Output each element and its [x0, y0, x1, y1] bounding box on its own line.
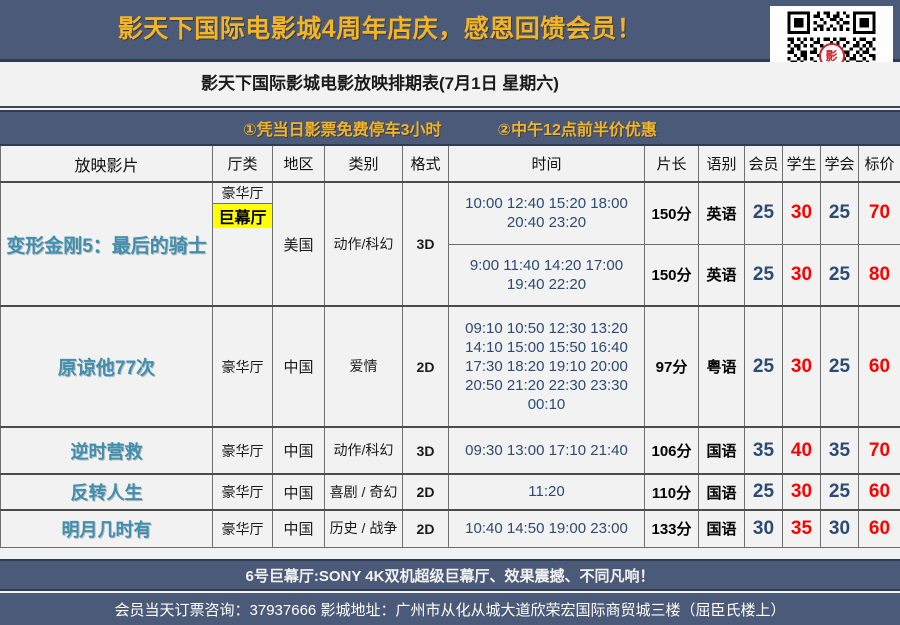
header-length: 片长	[645, 146, 699, 182]
cell-price-standard: 70	[859, 182, 900, 244]
cell-price-standard: 70	[859, 427, 900, 474]
cell-price-association: 25	[821, 244, 859, 306]
cell-showtimes[interactable]: 10:40 14:50 19:00 23:00	[449, 510, 645, 547]
header-standard: 标价	[859, 146, 900, 182]
table-header-row: 放映影片 厅类 地区 类别 格式 时间 片长 语别 会员 学生 学会 标价	[1, 146, 900, 182]
header-region: 地区	[273, 146, 325, 182]
cell-region: 中国	[273, 474, 325, 510]
header-format: 格式	[403, 146, 449, 182]
cell-length: 133分	[645, 510, 699, 547]
cell-price-student: 30	[783, 182, 821, 244]
cell-category: 历史 / 战争	[325, 510, 403, 547]
cell-length: 97分	[645, 306, 699, 427]
cell-region: 中国	[273, 510, 325, 547]
cell-price-standard: 80	[859, 244, 900, 306]
cell-hall: 豪华厅 巨幕厅	[213, 182, 273, 306]
cell-film-title: 原谅他77次	[1, 306, 213, 427]
header-member: 会员	[745, 146, 783, 182]
cell-showtimes[interactable]: 10:00 12:40 15:20 18:00 20:40 23:20	[449, 182, 645, 244]
cell-format: 3D	[403, 182, 449, 306]
schedule-subtitle: 影天下国际影城电影放映排期表(7月1日 星期六)	[0, 62, 760, 106]
table-row[interactable]: 明月几时有 豪华厅 中国 历史 / 战争 2D 10:40 14:50 19:0…	[1, 510, 900, 547]
footer-imax-note: 6号巨幕厅:SONY 4K双机超级巨幕厅、效果震撼、不同凡响！	[0, 559, 900, 591]
table-row[interactable]: 反转人生 豪华厅 中国 喜剧 / 奇幻 2D 11:20 110分 国语 25 …	[1, 474, 900, 510]
table-row[interactable]: 逆时营救 豪华厅 中国 动作/科幻 3D 09:30 13:00 17:10 2…	[1, 427, 900, 474]
cinema-schedule-poster: 影天下国际电影城4周年店庆，感恩回馈会员！	[0, 0, 900, 625]
header-hall: 厅类	[213, 146, 273, 182]
cell-language: 国语	[699, 474, 745, 510]
cell-hall: 豪华厅	[213, 474, 273, 510]
cell-showtimes[interactable]: 09:10 10:50 12:30 13:20 14:10 15:00 15:5…	[449, 306, 645, 427]
header-association: 学会	[821, 146, 859, 182]
table-row[interactable]: 原谅他77次 豪华厅 中国 爱情 2D 09:10 10:50 12:30 13…	[1, 306, 900, 427]
cell-price-student: 40	[783, 427, 821, 474]
cell-format: 3D	[403, 427, 449, 474]
cell-price-standard: 60	[859, 306, 900, 427]
cell-category: 喜剧 / 奇幻	[325, 474, 403, 510]
cell-region: 中国	[273, 306, 325, 427]
cell-format: 2D	[403, 306, 449, 427]
subtitle-row: 影天下国际影城电影放映排期表(7月1日 星期六)	[0, 62, 900, 108]
cell-showtimes[interactable]: 11:20	[449, 474, 645, 510]
cell-price-student: 35	[783, 510, 821, 547]
cell-price-standard: 60	[859, 510, 900, 547]
top-banner: 影天下国际电影城4周年店庆，感恩回馈会员！	[0, 0, 900, 62]
cell-format: 2D	[403, 510, 449, 547]
cell-region: 中国	[273, 427, 325, 474]
header-language: 语别	[699, 146, 745, 182]
cell-film-title: 逆时营救	[1, 427, 213, 474]
cell-price-association: 30	[821, 510, 859, 547]
cell-length: 106分	[645, 427, 699, 474]
schedule-table: 放映影片 厅类 地区 类别 格式 时间 片长 语别 会员 学生 学会 标价 变形…	[0, 146, 900, 548]
header-time: 时间	[449, 146, 645, 182]
cell-price-member: 25	[745, 244, 783, 306]
cell-price-standard: 60	[859, 474, 900, 510]
cell-length: 150分	[645, 244, 699, 306]
cell-showtimes[interactable]: 9:00 11:40 14:20 17:00 19:40 22:20	[449, 244, 645, 306]
cell-showtimes[interactable]: 09:30 13:00 17:10 21:40	[449, 427, 645, 474]
cell-film-title: 变形金刚5：最后的骑士	[1, 182, 213, 306]
cell-hall: 豪华厅	[213, 510, 273, 547]
cell-category: 动作/科幻	[325, 182, 403, 306]
cell-hall: 豪华厅	[213, 427, 273, 474]
cell-price-member: 30	[745, 510, 783, 547]
footer-line-1: 6号巨幕厅:SONY 4K双机超级巨幕厅、效果震撼、不同凡响！	[246, 565, 655, 586]
cell-price-member: 25	[745, 474, 783, 510]
cell-price-member: 25	[745, 306, 783, 427]
cell-price-association: 25	[821, 306, 859, 427]
cell-category: 动作/科幻	[325, 427, 403, 474]
header-student: 学生	[783, 146, 821, 182]
cell-price-association: 35	[821, 427, 859, 474]
cell-price-association: 25	[821, 182, 859, 244]
footer-line-2: 会员当天订票咨询：37937666 影城地址：广州市从化从城大道欣荣宏国际商贸城…	[115, 599, 786, 620]
cell-category: 爱情	[325, 306, 403, 427]
cell-hall: 豪华厅	[213, 306, 273, 427]
cell-price-student: 30	[783, 474, 821, 510]
cell-language: 英语	[699, 182, 745, 244]
hall-primary: 豪华厅	[213, 183, 272, 204]
promo-item-1: ①凭当日影票免费停车3小时	[243, 116, 441, 140]
banner-headline: 影天下国际电影城4周年店庆，感恩回馈会员！	[0, 0, 760, 59]
cell-price-association: 25	[821, 474, 859, 510]
table-row[interactable]: 变形金刚5：最后的骑士 豪华厅 巨幕厅 美国 动作/科幻 3D 10:00 12…	[1, 182, 900, 244]
cell-price-student: 30	[783, 306, 821, 427]
cell-format: 2D	[403, 474, 449, 510]
cell-price-member: 35	[745, 427, 783, 474]
cell-language: 国语	[699, 427, 745, 474]
cell-region: 美国	[273, 182, 325, 306]
hall-highlight: 巨幕厅	[213, 204, 272, 228]
cell-language: 英语	[699, 244, 745, 306]
cell-language: 国语	[699, 510, 745, 547]
hall-split: 豪华厅 巨幕厅	[213, 183, 272, 228]
header-film: 放映影片	[1, 146, 213, 182]
cell-length: 150分	[645, 182, 699, 244]
promo-item-2: ②中午12点前半价优惠	[498, 116, 657, 140]
cell-length: 110分	[645, 474, 699, 510]
header-category: 类别	[325, 146, 403, 182]
cell-language: 粤语	[699, 306, 745, 427]
footer-contact: 会员当天订票咨询：37937666 影城地址：广州市从化从城大道欣荣宏国际商贸城…	[0, 593, 900, 625]
promotions-row: ①凭当日影票免费停车3小时 ②中午12点前半价优惠	[0, 110, 900, 146]
cell-price-student: 30	[783, 244, 821, 306]
cell-film-title: 反转人生	[1, 474, 213, 510]
cell-film-title: 明月几时有	[1, 510, 213, 547]
cell-price-member: 25	[745, 182, 783, 244]
